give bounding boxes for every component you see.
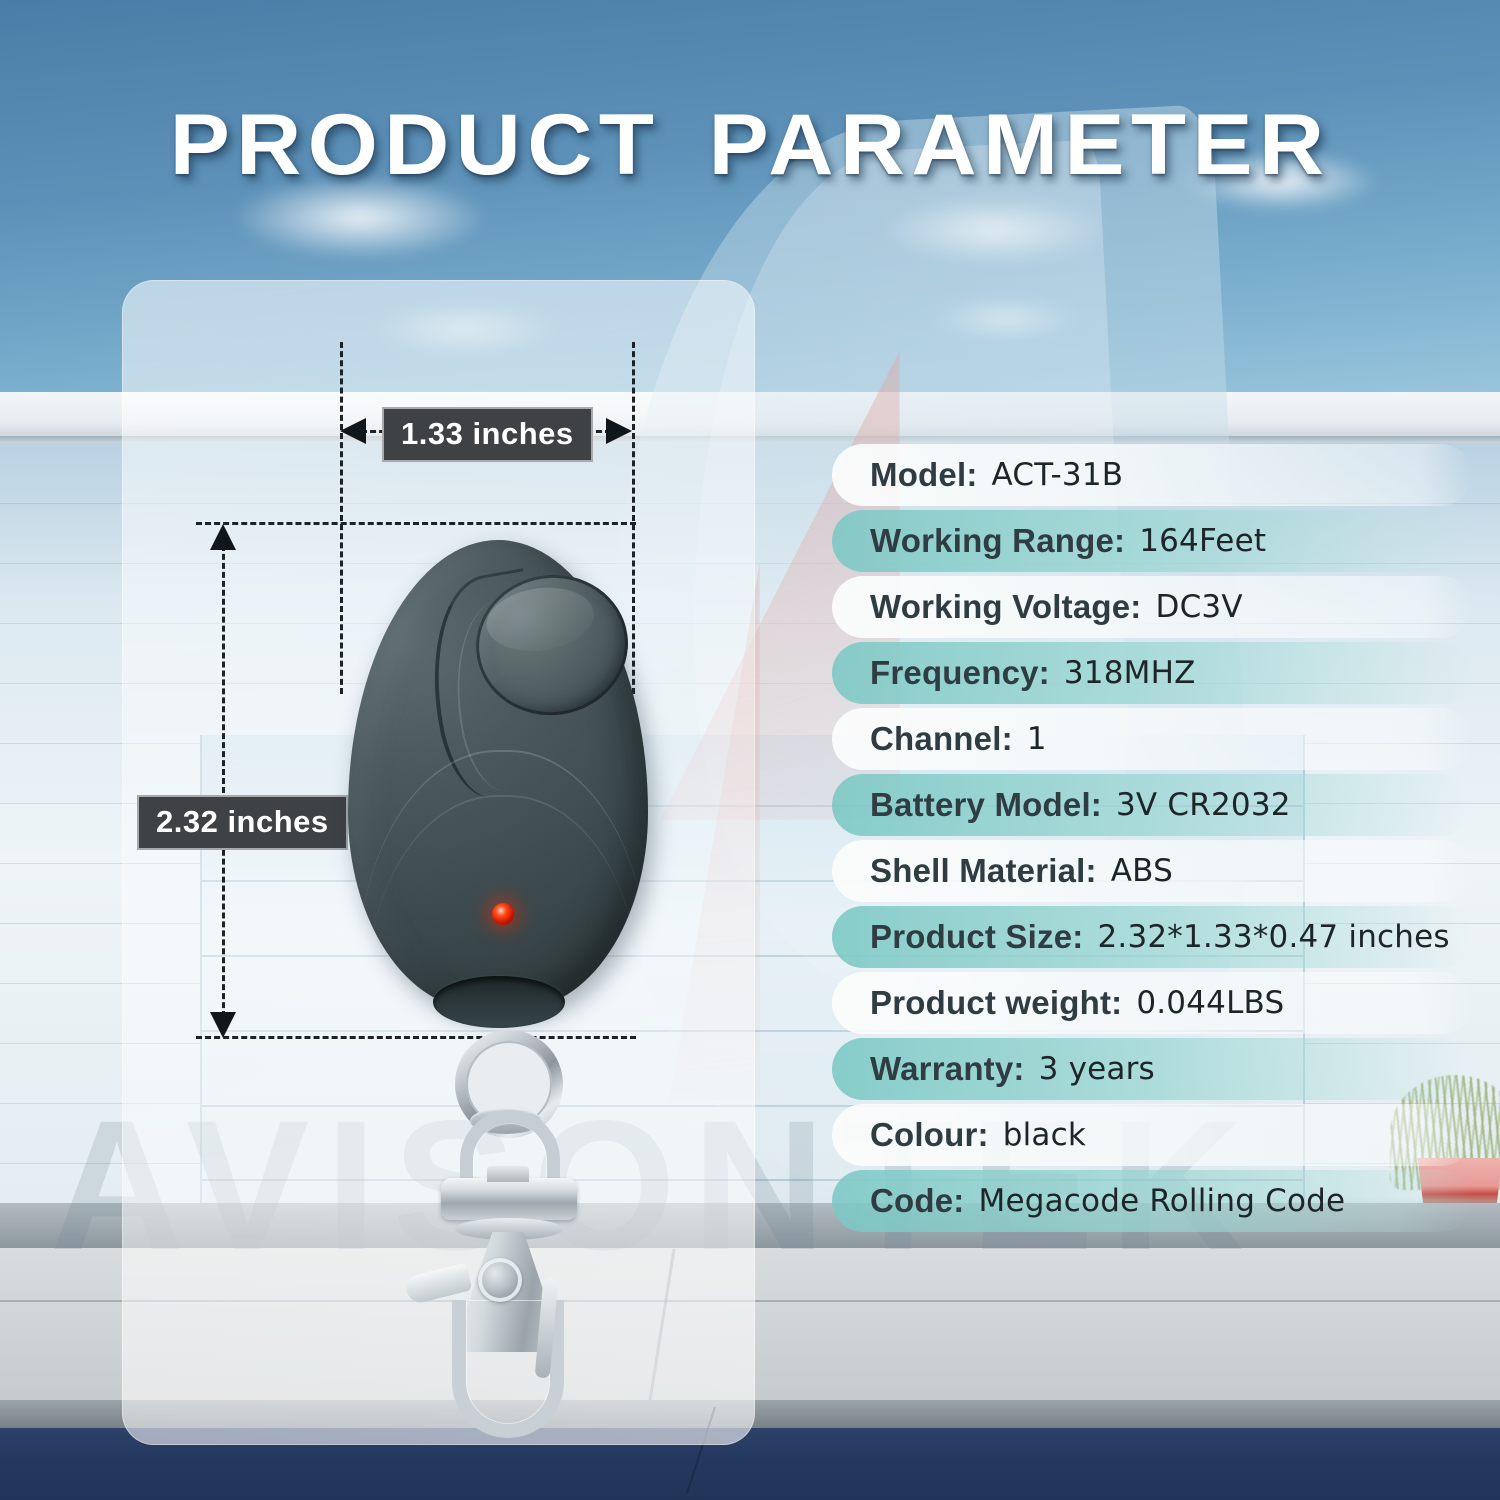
spec-row: Shell Material:ABS bbox=[832, 840, 1472, 902]
spec-row: Product weight:0.044LBS bbox=[832, 972, 1472, 1034]
fob-keyring-hole bbox=[433, 976, 565, 1028]
height-guide-bottom bbox=[196, 1036, 636, 1039]
lobster-clasp-pivot bbox=[478, 1258, 522, 1302]
page-title-word-1: PRODUCT bbox=[170, 97, 661, 193]
spec-value: 1 bbox=[1027, 721, 1047, 757]
spec-label: Battery Model: bbox=[870, 786, 1102, 824]
led-indicator-icon bbox=[492, 903, 514, 925]
spec-row: Working Range:164Feet bbox=[832, 510, 1472, 572]
spec-row: Code:Megacode Rolling Code bbox=[832, 1170, 1472, 1232]
spec-value: 164Feet bbox=[1139, 523, 1266, 559]
spec-row: Frequency:318MHZ bbox=[832, 642, 1472, 704]
spec-row: Model:ACT-31B bbox=[832, 444, 1472, 506]
spec-value: ACT-31B bbox=[992, 457, 1124, 493]
spec-value: 3V CR2032 bbox=[1116, 787, 1291, 823]
spec-row: Channel:1 bbox=[832, 708, 1472, 770]
spec-value: 318MHZ bbox=[1064, 655, 1196, 691]
spec-label: Channel: bbox=[870, 720, 1013, 758]
spec-value: ABS bbox=[1111, 853, 1173, 889]
page-title-word-2: PARAMETER bbox=[708, 97, 1330, 193]
page-title: PRODUCTPARAMETER bbox=[0, 96, 1500, 195]
spec-label: Model: bbox=[870, 456, 978, 494]
spec-row: Working Voltage:DC3V bbox=[832, 576, 1472, 638]
spec-label: Colour: bbox=[870, 1116, 989, 1154]
height-dimension-badge: 2.32 inches bbox=[137, 795, 348, 850]
spec-label: Working Voltage: bbox=[870, 588, 1142, 626]
spec-label: Frequency: bbox=[870, 654, 1050, 692]
spec-label: Product weight: bbox=[870, 984, 1122, 1022]
spec-label: Working Range: bbox=[870, 522, 1125, 560]
spec-row: Colour:black bbox=[832, 1104, 1472, 1166]
spec-value: 0.044LBS bbox=[1136, 985, 1284, 1021]
spec-value: DC3V bbox=[1156, 589, 1243, 625]
spec-label: Code: bbox=[870, 1182, 965, 1220]
width-guide-left bbox=[340, 342, 343, 694]
width-arrow-left-icon bbox=[340, 418, 366, 444]
spec-label: Shell Material: bbox=[870, 852, 1097, 890]
width-dimension-badge: 1.33 inches bbox=[382, 407, 593, 462]
spec-value: Megacode Rolling Code bbox=[979, 1183, 1346, 1219]
height-arrow-up-icon bbox=[210, 524, 236, 550]
spec-row: Warranty:3 years bbox=[832, 1038, 1472, 1100]
spec-row: Battery Model:3V CR2032 bbox=[832, 774, 1472, 836]
spec-label: Warranty: bbox=[870, 1050, 1025, 1088]
height-arrow-down-icon bbox=[210, 1012, 236, 1038]
spec-row: Product Size:2.32*1.33*0.47 inches bbox=[832, 906, 1472, 968]
specification-list: Model:ACT-31BWorking Range:164FeetWorkin… bbox=[832, 444, 1472, 1236]
spec-value: 3 years bbox=[1039, 1051, 1155, 1087]
spec-value: black bbox=[1003, 1117, 1086, 1153]
width-guide-right bbox=[632, 342, 635, 694]
width-arrow-right-icon bbox=[606, 418, 632, 444]
spec-value: 2.32*1.33*0.47 inches bbox=[1097, 919, 1449, 955]
spec-label: Product Size: bbox=[870, 918, 1083, 956]
height-measure-line bbox=[222, 536, 225, 1026]
clasp-swivel-collar bbox=[441, 1178, 577, 1220]
clasp-collar-nub bbox=[487, 1166, 529, 1182]
height-guide-top bbox=[196, 522, 636, 525]
